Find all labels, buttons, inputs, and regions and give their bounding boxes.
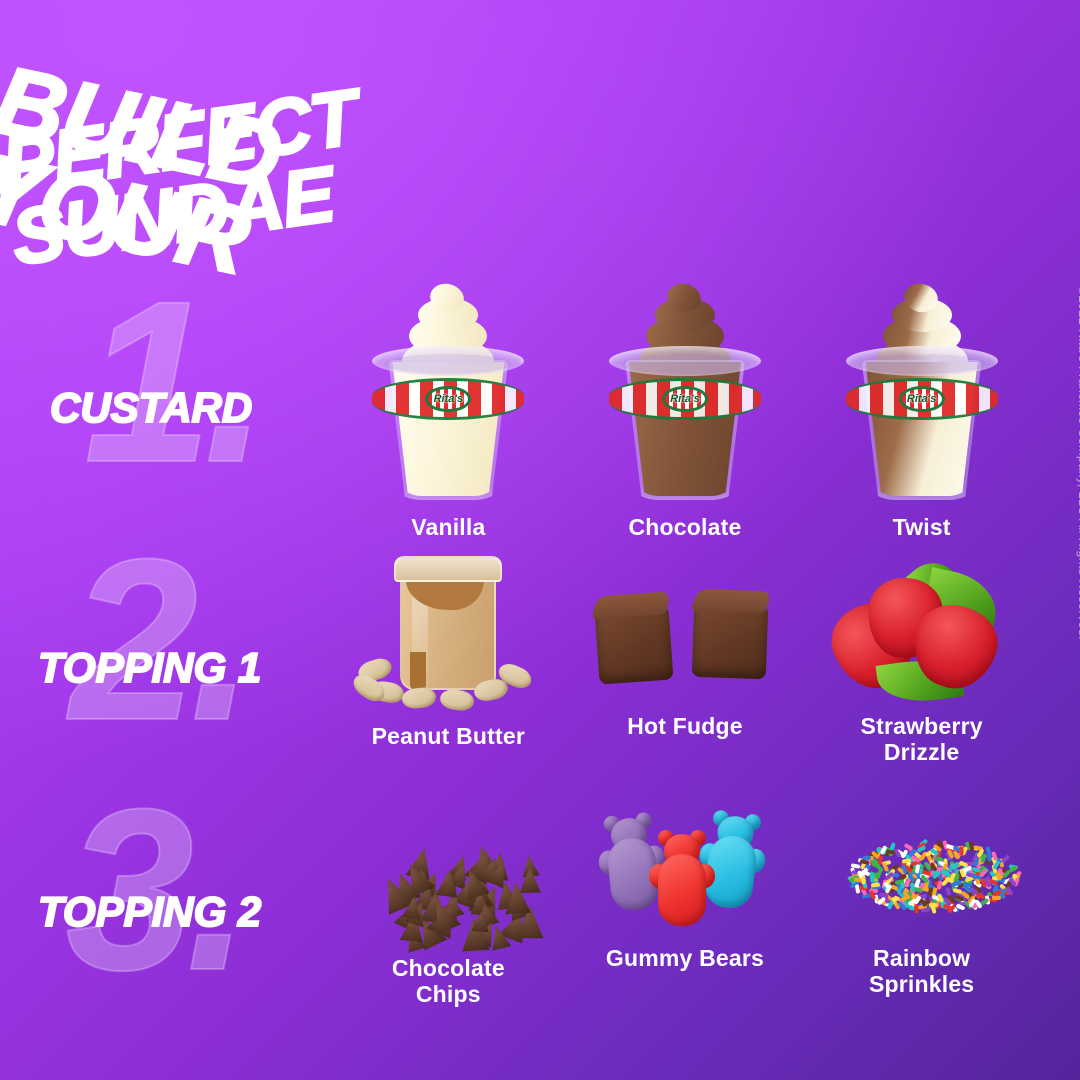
gummy-bears-art	[585, 808, 785, 938]
sprinkle-icon	[959, 847, 963, 856]
step-label-topping-1: TOPPING 1	[38, 644, 261, 692]
custard-cup-twist-art: Rita's	[822, 282, 1022, 507]
step-row-topping-2: 3. TOPPING 2 Chocolate Chips	[0, 808, 1080, 1068]
gummy-bear-red	[651, 830, 713, 928]
option-label: Chocolate	[628, 515, 741, 541]
step-label-custard: CUSTARD	[50, 384, 252, 432]
chocolate-chips-art	[348, 808, 548, 948]
sprinkle-icon	[992, 896, 1001, 900]
step-number-2: 2.	[70, 548, 246, 732]
peanut-butter-jar-art	[348, 556, 548, 716]
option-gummy-bears[interactable]: Gummy Bears	[570, 808, 800, 972]
chocolate-chip-icon	[516, 867, 544, 893]
ritas-logo-icon: Rita's	[425, 386, 471, 412]
poster-canvas: BUILD YOUR PERFECT SUNDAE 1. CUSTARD	[0, 0, 1080, 1080]
step-3-heading: 3. TOPPING 2	[0, 808, 330, 1068]
custard-cup-vanilla-art: Rita's	[348, 282, 548, 507]
option-hot-fudge[interactable]: Hot Fudge	[570, 556, 800, 740]
option-label: Peanut Butter	[372, 724, 525, 750]
custard-options: Rita's Vanilla	[330, 282, 1080, 541]
sprinkle-icon	[861, 876, 865, 885]
option-chocolate[interactable]: Rita's Chocolate	[570, 282, 800, 541]
ritas-logo-icon: Rita's	[899, 386, 945, 412]
sprinkle-icon	[962, 883, 971, 888]
option-twist[interactable]: Rita's Twist	[807, 282, 1037, 541]
sprinkle-icon	[934, 857, 943, 862]
rainbow-sprinkles-art	[822, 808, 1022, 938]
option-label: Chocolate Chips	[392, 956, 505, 1008]
hot-fudge-cubes-art	[585, 556, 785, 706]
poster-title: BUILD YOUR PERFECT SUNDAE	[0, 62, 1080, 166]
copyright-notice: ©2022 Rita's Franchise Company, LLC All …	[1076, 286, 1080, 640]
custard-cup-chocolate-art: Rita's	[585, 282, 785, 507]
option-strawberry-drizzle[interactable]: Strawberry Drizzle	[807, 556, 1037, 766]
topping-1-options: Peanut Butter Hot Fudge	[330, 556, 1080, 766]
option-label: Vanilla	[411, 515, 485, 541]
strawberries-art	[822, 556, 1022, 706]
option-vanilla[interactable]: Rita's Vanilla	[333, 282, 563, 541]
option-label: Rainbow Sprinkles	[869, 946, 974, 998]
sprinkle-icon	[1001, 854, 1010, 863]
option-label: Strawberry Drizzle	[861, 714, 983, 766]
option-chocolate-chips[interactable]: Chocolate Chips	[333, 808, 563, 1008]
sprinkle-icon	[871, 882, 880, 887]
option-label: Hot Fudge	[627, 714, 743, 740]
option-label: Twist	[893, 515, 951, 541]
step-label-topping-2: TOPPING 2	[38, 888, 261, 936]
option-peanut-butter[interactable]: Peanut Butter	[333, 556, 563, 750]
sprinkle-icon	[921, 907, 931, 913]
option-label: Gummy Bears	[606, 946, 764, 972]
option-rainbow-sprinkles[interactable]: Rainbow Sprinkles	[807, 808, 1037, 998]
title-line-2: PERFECT SUNDAE	[0, 118, 87, 171]
ritas-logo-icon: Rita's	[662, 386, 708, 412]
step-number-1: 1.	[84, 290, 260, 474]
topping-2-options: Chocolate Chips	[330, 808, 1080, 1008]
